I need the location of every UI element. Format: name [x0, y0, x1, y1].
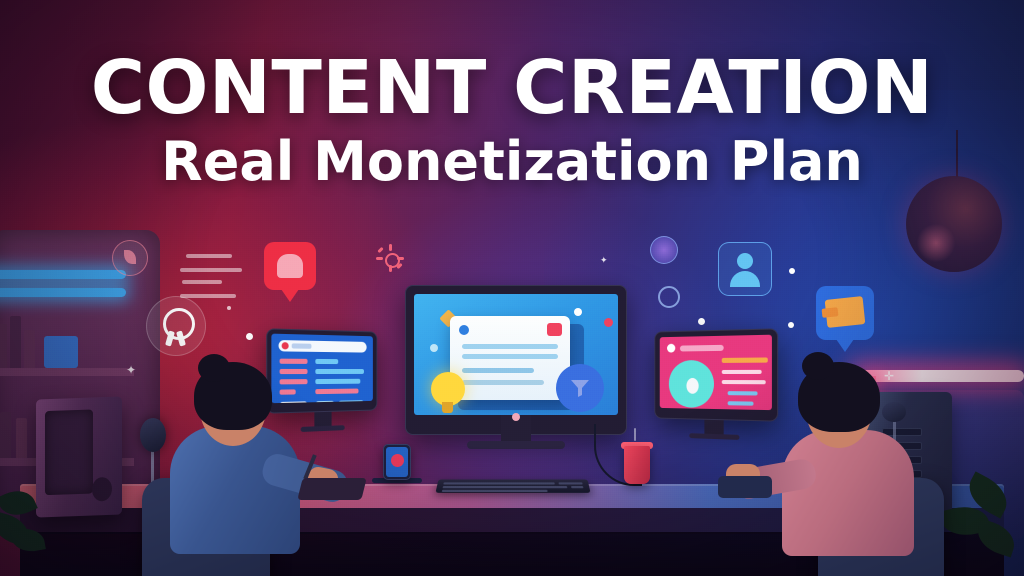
title-block: CONTENT CREATION Real Monetization Plan [0, 52, 1024, 189]
creator-right-hair-bun [802, 352, 834, 380]
mouse-pad [718, 476, 772, 498]
creator-left [150, 360, 360, 576]
illustration-canvas: ✦ ✛ ✦ [0, 0, 1024, 576]
creator-right [740, 360, 960, 576]
drawing-tablet [297, 478, 366, 500]
page-title: CONTENT CREATION [0, 52, 1024, 125]
creator-left-hair-bun [198, 354, 230, 382]
page-subtitle: Real Monetization Plan [0, 135, 1024, 189]
creator-right-torso [782, 430, 914, 556]
